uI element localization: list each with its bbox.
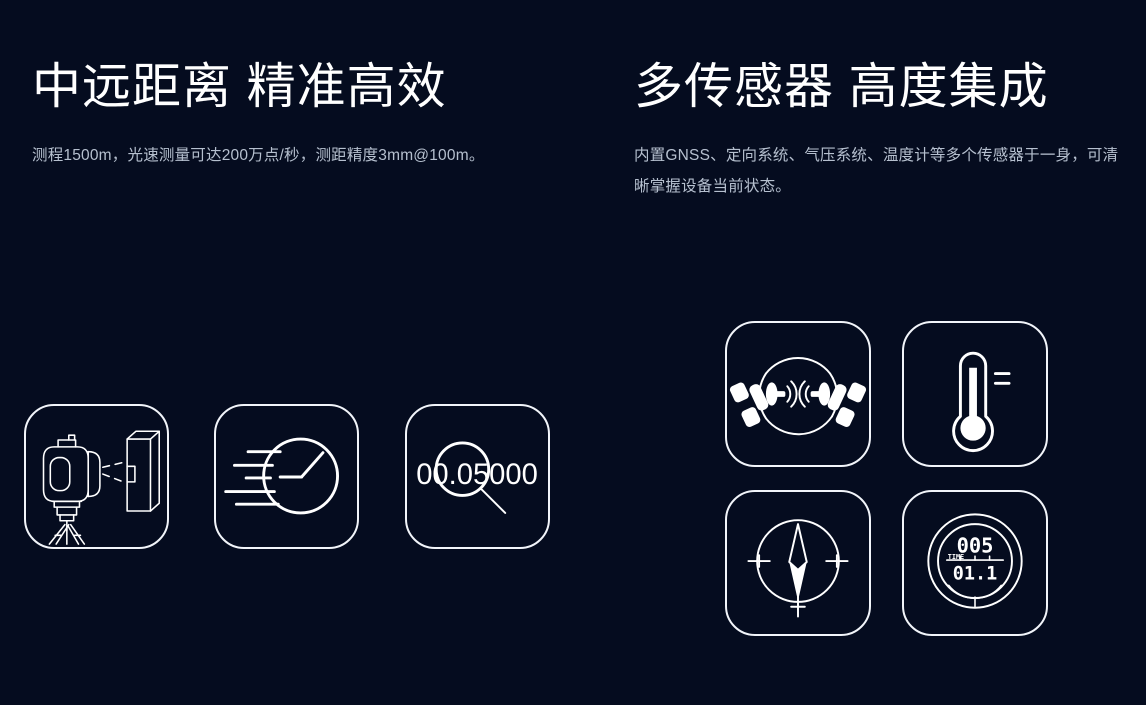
magnifier-precision-icon: 00.05000 <box>405 404 550 549</box>
thermometer-icon <box>902 321 1048 467</box>
speed-clock-icon <box>214 404 359 549</box>
compass-icon <box>725 490 871 636</box>
barometer-meter-label: TIME <box>948 553 964 561</box>
feature-showcase-page: 中远距离 精准高效 测程1500m，光速测量可达200万点/秒，测距精度3mm@… <box>0 0 1146 705</box>
feature-block-range-accuracy: 中远距离 精准高效 测程1500m，光速测量可达200万点/秒，测距精度3mm@… <box>32 56 502 171</box>
barometer-bottom-value: 01.1 <box>953 564 997 585</box>
barometer-gauge-icon: 005 TIME 01.1 <box>902 490 1048 636</box>
page-title-multi-sensor: 多传感器 高度集成 <box>634 56 1134 118</box>
precision-value: 00.05000 <box>416 459 538 491</box>
description-range-accuracy: 测程1500m，光速测量可达200万点/秒，测距精度3mm@100m。 <box>32 140 502 171</box>
gnss-satellite-icon <box>725 321 871 467</box>
page-title-range-accuracy: 中远距离 精准高效 <box>32 56 502 118</box>
laser-scanner-tripod-icon <box>24 404 169 549</box>
description-multi-sensor: 内置GNSS、定向系统、气压系统、温度计等多个传感器于一身，可清晰掌握设备当前状… <box>634 140 1134 202</box>
feature-block-multi-sensor: 多传感器 高度集成 内置GNSS、定向系统、气压系统、温度计等多个传感器于一身，… <box>634 56 1134 202</box>
